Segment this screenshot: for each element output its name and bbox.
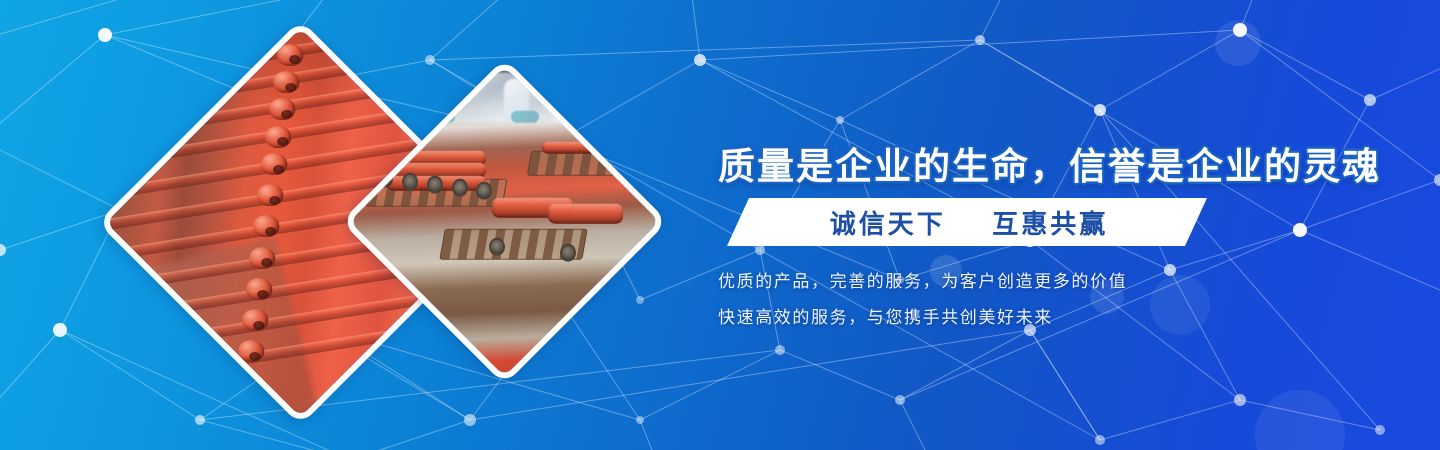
slogan-ribbon-text: 诚信天下 互惠共赢 xyxy=(826,204,1109,241)
slogan-ribbon: 诚信天下 互惠共赢 xyxy=(727,198,1207,246)
banner-subtext-line-2: 快速高效的服务，与您携手共创美好未来 xyxy=(718,303,1053,328)
promo-banner: 质量是企业的生命，信誉是企业的灵魂 诚信天下 互惠共赢 优质的产品，完善的服务，… xyxy=(0,0,1440,450)
slogan-left: 诚信天下 xyxy=(830,209,946,239)
banner-subtext-line-1: 优质的产品，完善的服务，为客户创造更多的价值 xyxy=(718,267,1127,292)
banner-headline: 质量是企业的生命，信誉是企业的灵魂 xyxy=(718,136,1381,190)
slogan-right: 互惠共赢 xyxy=(992,209,1108,239)
